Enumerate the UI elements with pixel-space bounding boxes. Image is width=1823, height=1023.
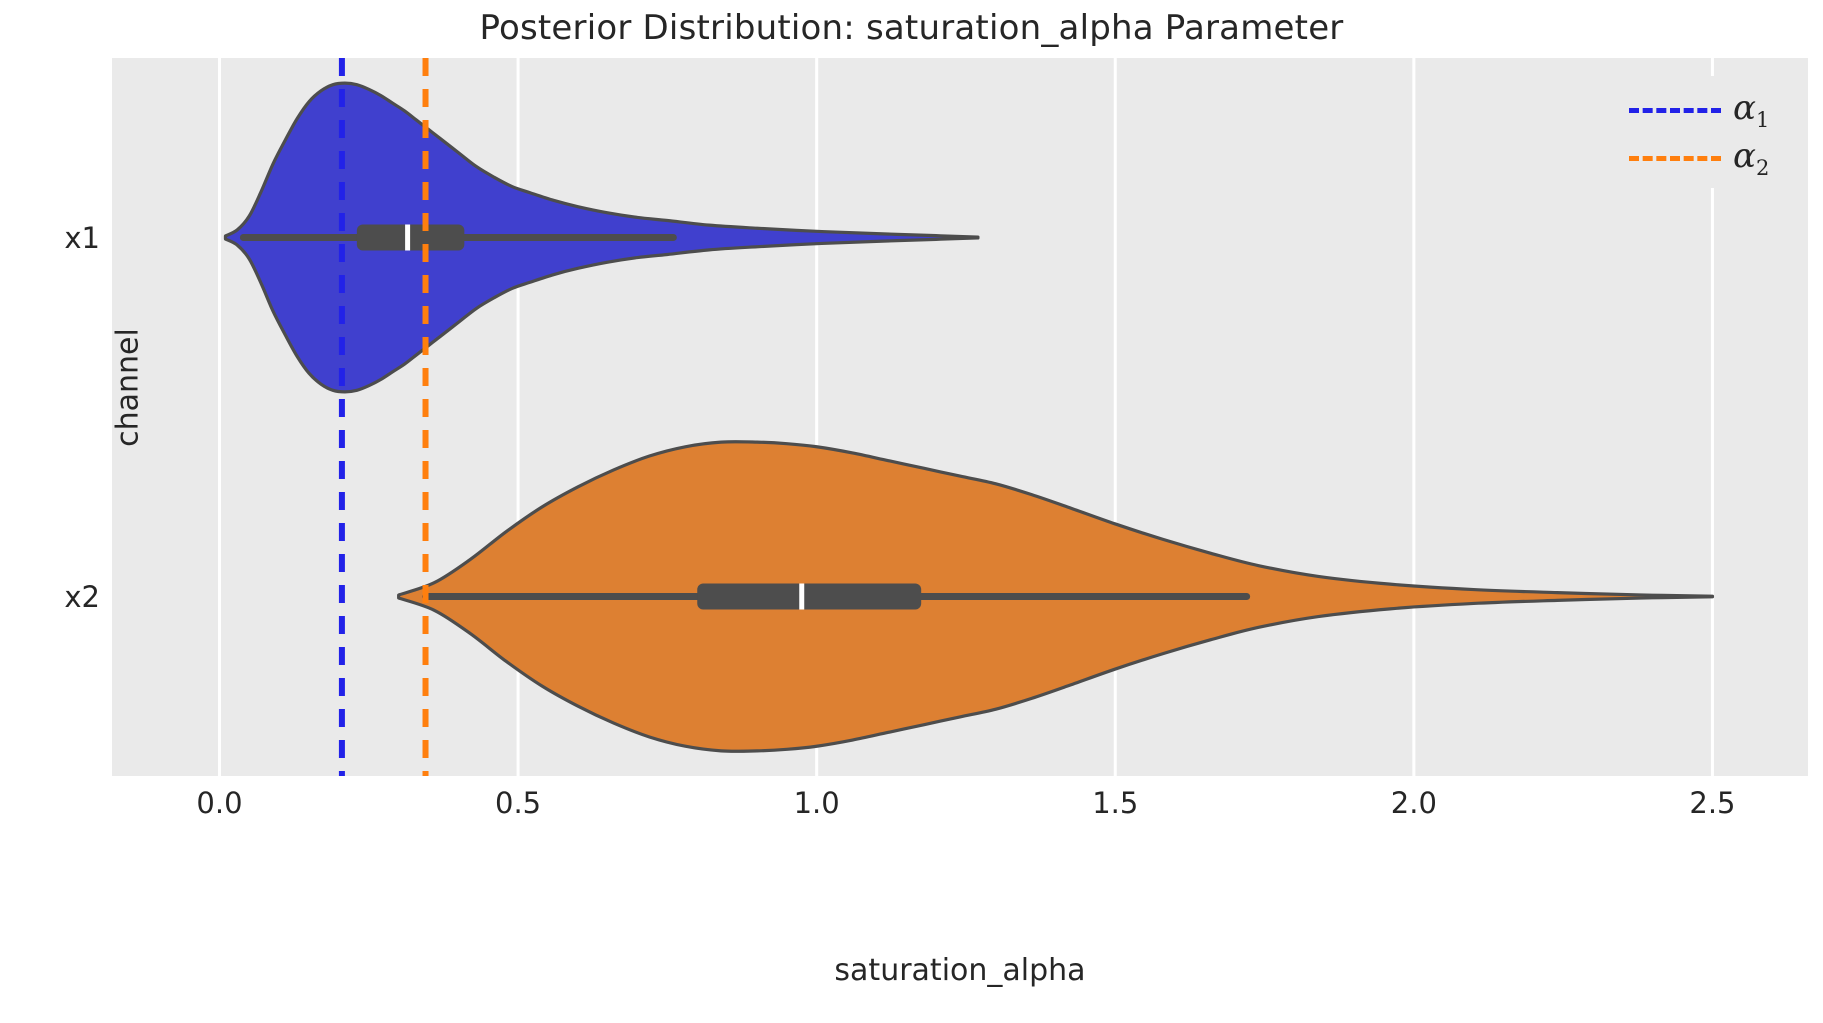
x-tick-label: 1.0 xyxy=(794,786,840,820)
x-tick-label: 1.5 xyxy=(1092,786,1138,820)
legend-line-alpha1 xyxy=(1629,108,1721,113)
x-tick-label: 2.5 xyxy=(1689,786,1735,820)
x-tick-label: 0.5 xyxy=(495,786,541,820)
legend-label-alpha2: α2 xyxy=(1733,136,1769,180)
y-tick-label: x1 xyxy=(62,221,100,255)
chart-title: Posterior Distribution: saturation_alpha… xyxy=(0,8,1823,48)
x-tick-label: 0.0 xyxy=(196,786,242,820)
legend-item-alpha1: α1 xyxy=(1629,90,1799,130)
legend-line-alpha2 xyxy=(1629,156,1721,161)
legend: α1 α2 xyxy=(1619,76,1805,188)
plot-area xyxy=(112,58,1808,776)
legend-label-alpha1: α1 xyxy=(1733,88,1769,132)
y-axis-label: channel xyxy=(111,238,146,538)
legend-item-alpha2: α2 xyxy=(1629,138,1799,178)
y-tick-label: x2 xyxy=(62,580,100,614)
figure: Posterior Distribution: saturation_alpha… xyxy=(0,0,1823,1023)
x-axis-label: saturation_alpha xyxy=(112,953,1808,988)
x-tick-label: 2.0 xyxy=(1391,786,1437,820)
